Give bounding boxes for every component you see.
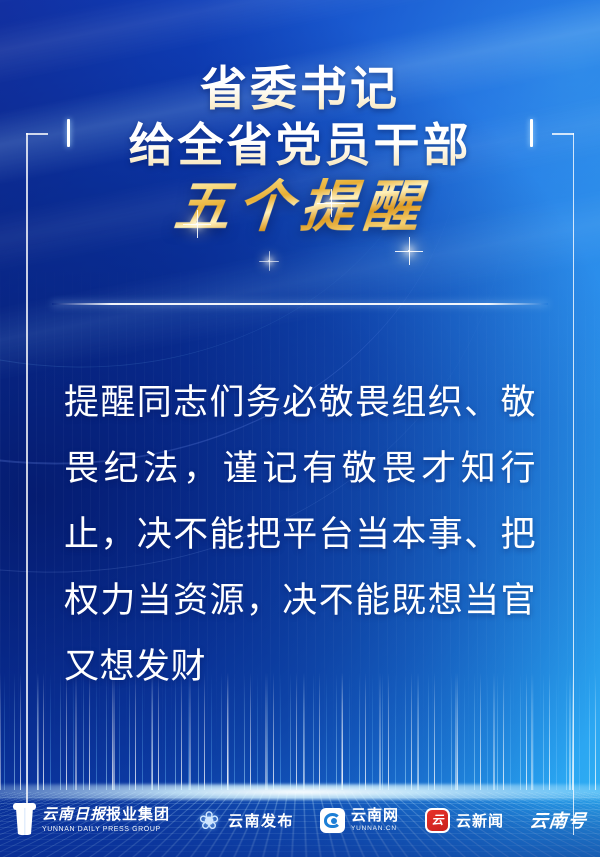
footer-logo-bar: 云南日报报业集团 YUNNAN DAILY PRESS GROUP ❀ 云南发布… [0, 803, 600, 837]
yunnan-daily-cup-icon [13, 803, 36, 837]
poster-canvas: 省委书记 给全省党员干部 五个提醒 提醒同志们务必敬畏组织、敬畏纪法，谨记有敬畏… [0, 0, 600, 857]
logo-label-en: YUNNAN DAILY PRESS GROUP [42, 826, 170, 833]
logo-yunnan-daily-press-group[interactable]: 云南日报报业集团 YUNNAN DAILY PRESS GROUP [13, 803, 170, 837]
yunnan-daily-wordmark: 云南日报报业集团 YUNNAN DAILY PRESS GROUP [42, 807, 170, 833]
horizon-glow-line [0, 784, 600, 800]
body-copy: 提醒同志们务必敬畏组织、敬畏纪法，谨记有敬畏才知行止，决不能把平台当本事、把权力… [64, 370, 536, 700]
logo-yunnan-net[interactable]: 云南网 YUNNAN.CN [320, 808, 399, 833]
logo-label-cn: 云南网 [351, 808, 399, 823]
body-paragraph: 提醒同志们务必敬畏组织、敬畏纪法，谨记有敬畏才知行止，决不能把平台当本事、把权力… [64, 370, 536, 700]
page-title-line-1: 省委书记 [0, 62, 600, 117]
yunnan-net-eye-icon [320, 808, 345, 833]
logo-label-cn: 云南发布 [228, 810, 294, 831]
poster-header: 省委书记 给全省党员干部 五个提醒 [0, 62, 600, 239]
logo-label-cn: 云新闻 [456, 810, 504, 831]
sparkle-icon [408, 250, 410, 252]
logo-yunnan-hao[interactable]: 云南号 [530, 807, 587, 833]
yun-news-app-icon: 云 [425, 808, 450, 833]
logo-yunnan-fabu[interactable]: ❀ 云南发布 [196, 803, 294, 837]
logo-label-cn-bold: 报业集团 [106, 806, 170, 823]
page-title-line-2: 给全省党员干部 [0, 119, 600, 172]
logo-yun-news[interactable]: 云 云新闻 [425, 808, 504, 833]
peacock-emblem-icon: ❀ [196, 803, 222, 837]
logo-label-en: YUNNAN.CN [351, 826, 399, 833]
yunnan-net-wordmark: 云南网 YUNNAN.CN [351, 808, 399, 833]
section-divider [52, 303, 548, 305]
page-subtitle-calligraphy: 五个提醒 [171, 178, 428, 240]
logo-label-cn: 云南号 [529, 807, 589, 833]
sparkle-icon [268, 260, 269, 261]
logo-label-cn-hand: 云南日报 [42, 807, 106, 823]
logo-icon-char: 云 [427, 810, 448, 831]
